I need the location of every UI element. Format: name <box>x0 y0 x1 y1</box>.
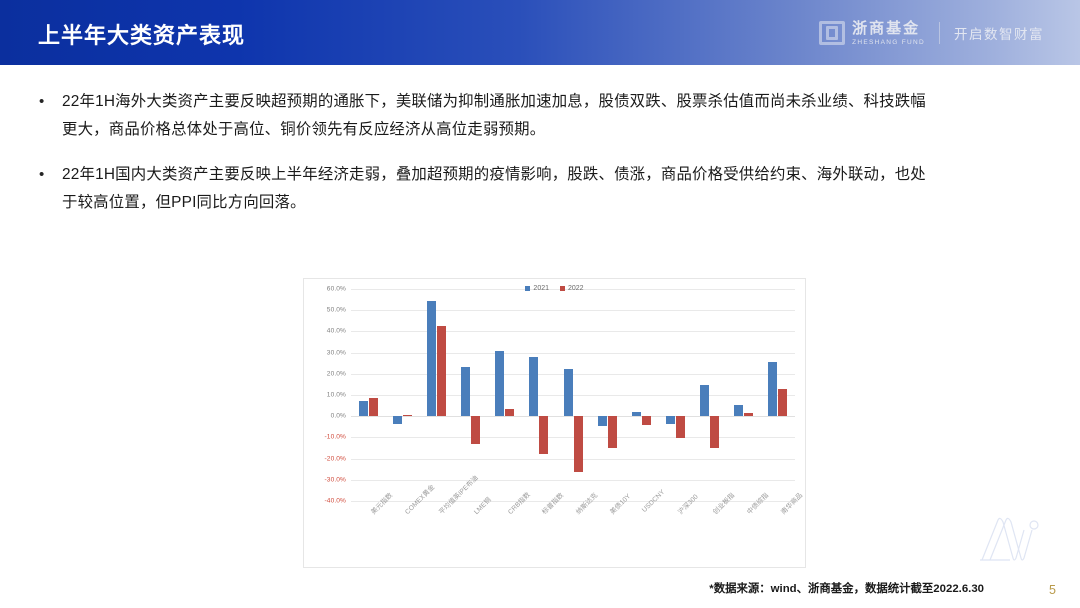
bar-2021-美债10Y[interactable] <box>598 416 607 426</box>
x-axis-tick: COMEX黄金 <box>385 507 419 565</box>
bar-group <box>522 289 556 501</box>
bullet-text: 22年1H国内大类资产主要反映上半年经济走弱，叠加超预期的疫情影响，股跌、债涨，… <box>62 161 934 217</box>
y-axis-tick-label: -20.0% <box>325 455 347 462</box>
x-axis-tick: CRB指数 <box>488 507 522 565</box>
brand-tagline: 开启数智财富 <box>954 23 1044 43</box>
y-axis-tick-label: 20.0% <box>327 370 346 377</box>
bar-2022-中债综指[interactable] <box>744 413 753 416</box>
legend-swatch-icon <box>525 286 530 291</box>
bar-group <box>453 289 487 501</box>
brand-logo: 浙商基金 ZHESHANG FUND 开启数智财富 <box>819 18 1044 48</box>
y-axis-tick-label: -10.0% <box>325 434 347 441</box>
bar-group <box>556 289 590 501</box>
bar-2022-美债10Y[interactable] <box>608 416 617 448</box>
list-item: • 22年1H国内大类资产主要反映上半年经济走弱，叠加超预期的疫情影响，股跌、债… <box>34 161 934 217</box>
brand-wordmark: 浙商基金 ZHESHANG FUND <box>852 21 925 46</box>
y-axis-tick-label: -30.0% <box>325 476 347 483</box>
bar-group <box>727 289 761 501</box>
bar-2021-纳斯达克[interactable] <box>564 369 573 416</box>
brand-name-en: ZHESHANG FUND <box>852 39 925 46</box>
bar-2022-美元指数[interactable] <box>369 398 378 416</box>
y-axis-tick-label: 0.0% <box>331 413 346 420</box>
bar-2021-LME铜[interactable] <box>461 367 470 416</box>
y-axis-tick-label: 30.0% <box>327 349 346 356</box>
x-axis-tick: 南华商品 <box>761 507 795 565</box>
bar-2021-COMEX黄金[interactable] <box>393 416 402 424</box>
chart-legend: 20212022 <box>304 285 805 292</box>
bullet-marker-icon: • <box>34 161 62 217</box>
slide-header: 上半年大类资产表现 浙商基金 ZHESHANG FUND 开启数智财富 <box>0 0 1080 65</box>
x-axis-tick: 美债10Y <box>590 507 624 565</box>
legend-item-2021[interactable]: 2021 <box>525 285 549 292</box>
bar-2021-南华商品[interactable] <box>768 362 777 416</box>
bar-group <box>419 289 453 501</box>
chart-plot-area: 60.0%50.0%40.0%30.0%20.0%10.0%0.0%-10.0%… <box>351 289 795 501</box>
bar-2022-COMEX黄金[interactable] <box>403 415 412 416</box>
bar-2021-平均值英IPE布油[interactable] <box>427 301 436 416</box>
chart-bars <box>351 289 795 501</box>
bar-group <box>385 289 419 501</box>
bar-2022-平均值英IPE布油[interactable] <box>437 326 446 416</box>
y-axis-tick-label: 40.0% <box>327 328 346 335</box>
y-axis-tick-label: 50.0% <box>327 307 346 314</box>
slide-root: 上半年大类资产表现 浙商基金 ZHESHANG FUND 开启数智财富 • 22… <box>0 0 1080 608</box>
bar-group <box>590 289 624 501</box>
bar-2022-标普指数[interactable] <box>539 416 548 454</box>
x-axis-tick: 中债综指 <box>727 507 761 565</box>
bar-2021-中债综指[interactable] <box>734 405 743 416</box>
source-note: *数据来源：wind、浙商基金，数据统计截至2022.6.30 <box>709 580 984 596</box>
list-item: • 22年1H海外大类资产主要反映超预期的通胀下，美联储为抑制通胀加速加息，股债… <box>34 88 934 144</box>
x-axis-tick: 创业板指 <box>693 507 727 565</box>
legend-label: 2021 <box>533 285 549 292</box>
asset-performance-bar-chart: 20212022 60.0%50.0%40.0%30.0%20.0%10.0%0… <box>303 278 806 568</box>
x-axis-tick: 美元指数 <box>351 507 385 565</box>
x-axis-tick: LME铜 <box>453 507 487 565</box>
bar-2022-沪深300[interactable] <box>676 416 685 438</box>
bar-group <box>658 289 692 501</box>
brand-divider <box>939 22 940 44</box>
x-axis-tick: 标普指数 <box>522 507 556 565</box>
bar-2021-USDCNY[interactable] <box>632 412 641 416</box>
bar-group <box>693 289 727 501</box>
bar-2022-USDCNY[interactable] <box>642 416 651 424</box>
chart-x-axis: 美元指数COMEX黄金平均值英IPE布油LME铜CRB指数标普指数纳斯达克美债1… <box>351 507 795 565</box>
page-number: 5 <box>1049 583 1056 597</box>
bar-2021-美元指数[interactable] <box>359 401 368 416</box>
x-axis-tick: USDCNY <box>624 507 658 565</box>
bar-2022-南华商品[interactable] <box>778 389 787 416</box>
bar-2021-沪深300[interactable] <box>666 416 675 423</box>
page-title: 上半年大类资产表现 <box>38 18 245 50</box>
bar-2022-纳斯达克[interactable] <box>574 416 583 472</box>
bar-group <box>351 289 385 501</box>
watermark-logo-icon <box>980 514 1042 566</box>
brand-name-cn: 浙商基金 <box>852 21 925 36</box>
y-axis-tick-label: 10.0% <box>327 392 346 399</box>
bar-group <box>624 289 658 501</box>
legend-label: 2022 <box>568 285 584 292</box>
x-axis-tick: 平均值英IPE布油 <box>419 507 453 565</box>
bar-2022-CRB指数[interactable] <box>505 409 514 416</box>
bar-group <box>488 289 522 501</box>
bar-2021-CRB指数[interactable] <box>495 351 504 416</box>
bullet-marker-icon: • <box>34 88 62 144</box>
legend-swatch-icon <box>560 286 565 291</box>
bar-2022-创业板指[interactable] <box>710 416 719 448</box>
bar-2021-创业板指[interactable] <box>700 385 709 416</box>
bar-group <box>761 289 795 501</box>
legend-item-2022[interactable]: 2022 <box>560 285 584 292</box>
zheshang-fund-logo-icon <box>819 21 845 45</box>
bullet-text: 22年1H海外大类资产主要反映超预期的通胀下，美联储为抑制通胀加速加息，股债双跌… <box>62 88 934 144</box>
y-axis-tick-label: -40.0% <box>325 498 347 505</box>
x-axis-tick: 纳斯达克 <box>556 507 590 565</box>
x-axis-tick: 沪深300 <box>658 507 692 565</box>
bullet-list: • 22年1H海外大类资产主要反映超预期的通胀下，美联储为抑制通胀加速加息，股债… <box>34 88 934 234</box>
bar-2021-标普指数[interactable] <box>529 357 538 416</box>
bar-2022-LME铜[interactable] <box>471 416 480 444</box>
